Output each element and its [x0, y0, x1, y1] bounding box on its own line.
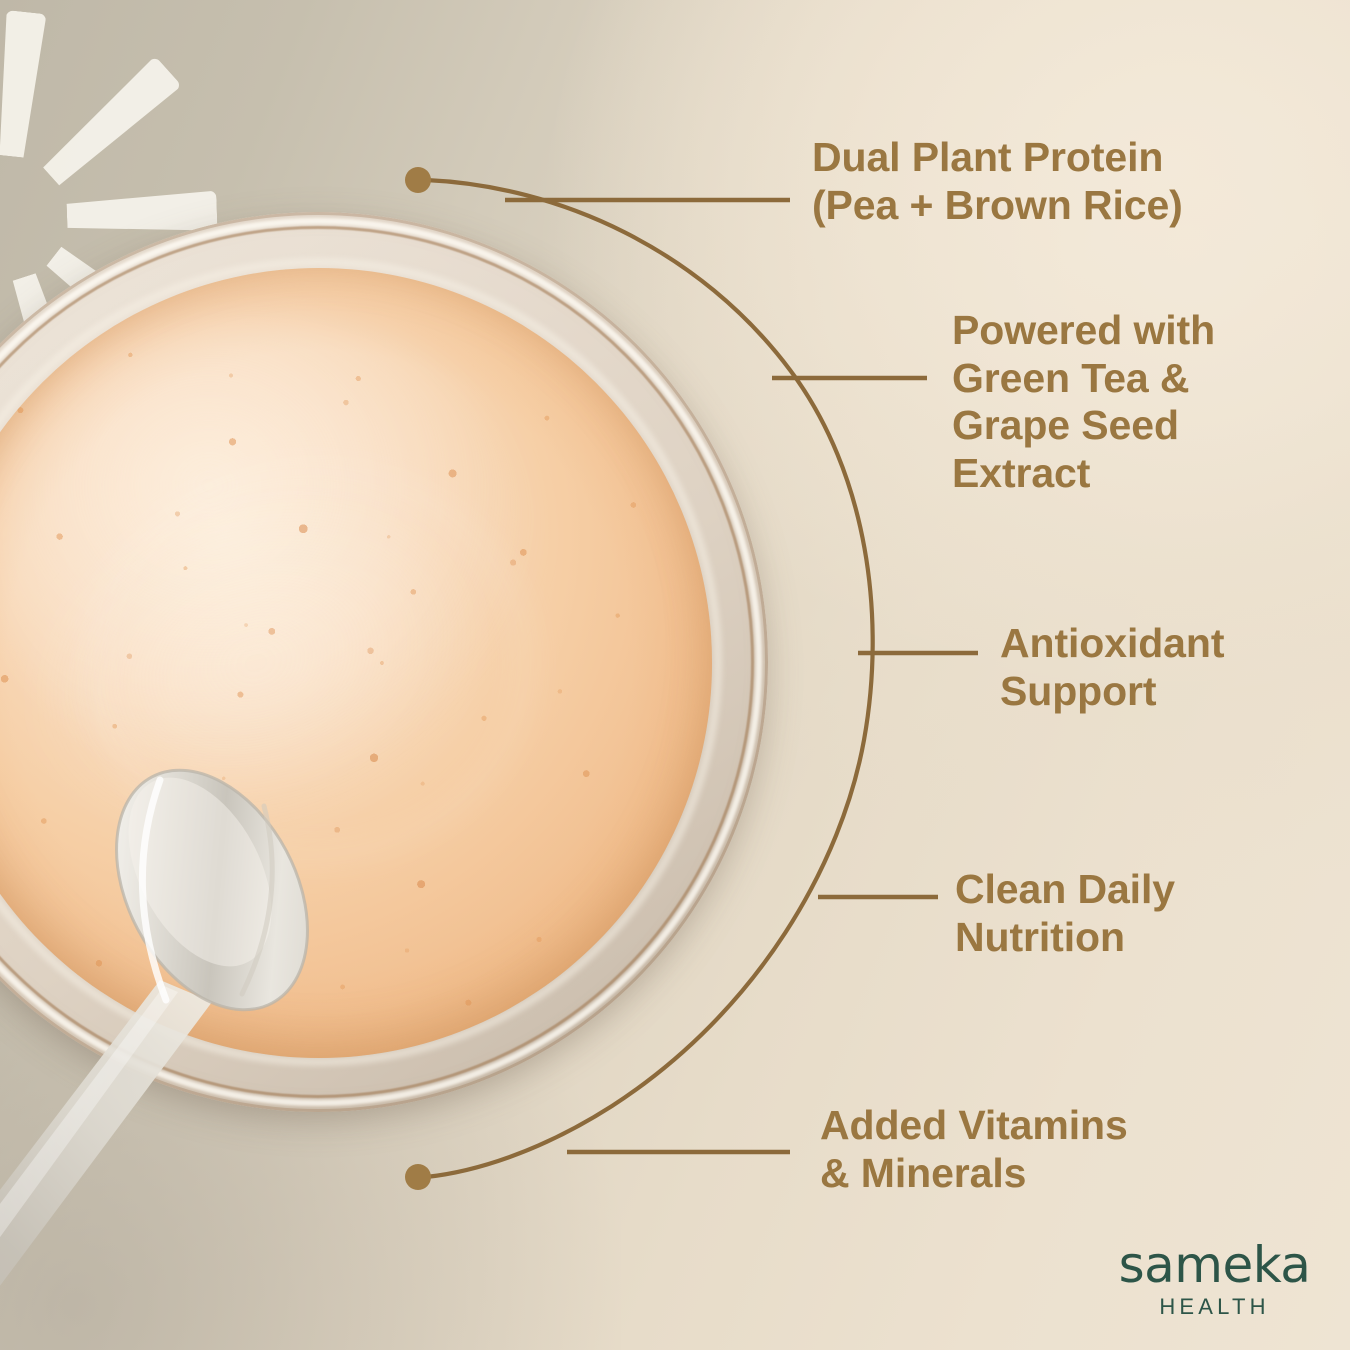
callout-label-clean-daily-nutrition: Clean Daily Nutrition [955, 866, 1175, 961]
callout-label-dual-plant-protein: Dual Plant Protein (Pea + Brown Rice) [812, 134, 1183, 229]
brand-tagline: HEALTH [1112, 1296, 1317, 1318]
callout-label-antioxidant-support: Antioxidant Support [1000, 620, 1224, 715]
callout-label-added-vitamins-minerals: Added Vitamins & Minerals [820, 1102, 1128, 1197]
brand-logo: sameka HEALTH [1112, 1240, 1317, 1318]
callout-dot-added-vitamins-minerals [405, 1164, 431, 1190]
callout-arc [426, 180, 873, 1177]
brand-name: sameka [1112, 1240, 1317, 1290]
callout-dot-dual-plant-protein [405, 167, 431, 193]
callout-label-powered-with-extracts: Powered with Green Tea & Grape Seed Extr… [952, 307, 1215, 497]
infographic-canvas: Dual Plant Protein (Pea + Brown Rice) Po… [0, 0, 1350, 1350]
